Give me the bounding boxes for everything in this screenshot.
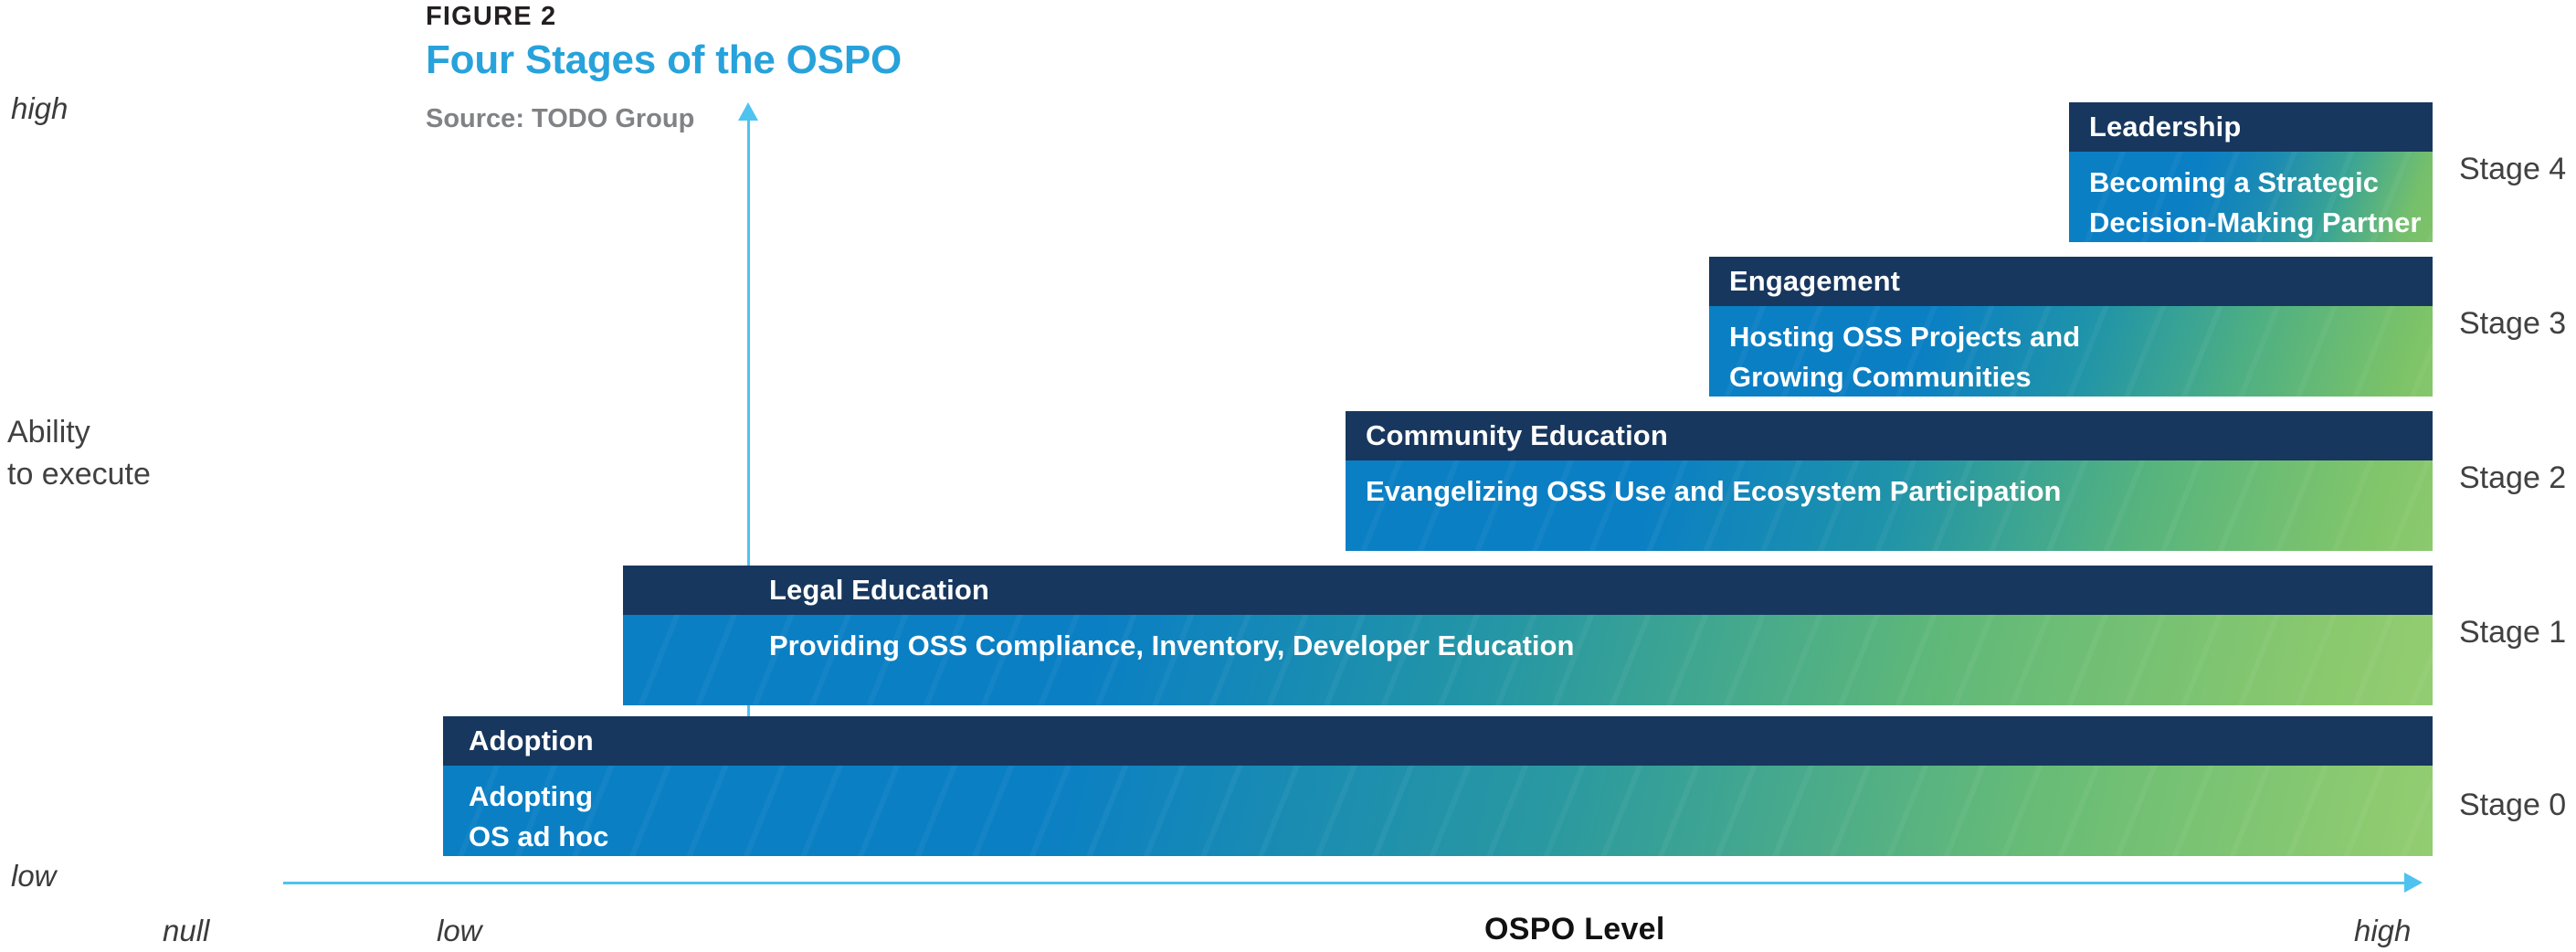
stage-4-axis-label: Stage 4 (2459, 151, 2566, 187)
stage-2-header: Community Education (1346, 411, 2433, 460)
stage-0-body-label: Adopting OS ad hoc (469, 780, 608, 852)
stage-2-header-label: Community Education (1366, 420, 1668, 451)
stage-1-body: Providing OSS Compliance, Inventory, Dev… (623, 615, 2433, 705)
stage-3-header-label: Engagement (1729, 266, 1900, 297)
stage-3-body-label: Hosting OSS Projects and Growing Communi… (1729, 321, 2080, 393)
stage-4-header: Leadership (2069, 102, 2433, 152)
stage-bar-3[interactable]: Engagement Hosting OSS Projects and Grow… (1709, 257, 2433, 397)
stage-0-sheen-overlay (443, 766, 2433, 856)
y-axis-high-tick-label: high (11, 91, 68, 126)
figure-number-label: FIGURE 2 (426, 0, 556, 33)
stage-bar-4[interactable]: Leadership Becoming a Strategic Decision… (2069, 102, 2433, 242)
stage-4-body: Becoming a Strategic Decision-Making Par… (2069, 152, 2433, 242)
stage-4-header-label: Leadership (2089, 111, 2241, 143)
stage-0-header-label: Adoption (469, 725, 594, 756)
x-axis-arrow-icon (2404, 873, 2423, 893)
x-axis-high-tick-label: high (2354, 914, 2411, 948)
figure-source-label: Source: TODO Group (426, 102, 694, 135)
stage-2-body: Evangelizing OSS Use and Ecosystem Parti… (1346, 460, 2433, 551)
stage-2-axis-label: Stage 2 (2459, 460, 2566, 496)
stage-bar-1[interactable]: Legal Education Providing OSS Compliance… (623, 566, 2433, 705)
ospo-four-stages-figure: FIGURE 2 Four Stages of the OSPO Source:… (0, 0, 2576, 952)
stage-1-body-label: Providing OSS Compliance, Inventory, Dev… (769, 629, 1574, 661)
stage-1-axis-label: Stage 1 (2459, 614, 2566, 651)
stage-bar-2[interactable]: Community Education Evangelizing OSS Use… (1346, 411, 2433, 551)
stage-1-header-label: Legal Education (769, 575, 989, 606)
y-axis-low-tick-label: low (11, 859, 57, 894)
stage-2-body-label: Evangelizing OSS Use and Ecosystem Parti… (1366, 475, 2061, 507)
x-axis-low-tick-label: low (437, 914, 482, 948)
x-axis-null-tick-label: null (163, 914, 209, 948)
stage-bar-0[interactable]: Adoption Adopting OS ad hoc (443, 716, 2433, 856)
y-axis-title: Ability to execute (7, 411, 281, 495)
stage-3-axis-label: Stage 3 (2459, 305, 2566, 342)
x-axis-line (283, 882, 2406, 884)
figure-title: Four Stages of the OSPO (426, 37, 902, 84)
stage-4-body-label: Becoming a Strategic Decision-Making Par… (2089, 166, 2421, 238)
stage-0-header: Adoption (443, 716, 2433, 766)
stage-1-header: Legal Education (623, 566, 2433, 615)
x-axis-title: OSPO Level (1484, 912, 1665, 947)
stage-3-body: Hosting OSS Projects and Growing Communi… (1709, 306, 2433, 397)
stage-3-header: Engagement (1709, 257, 2433, 306)
stage-0-body: Adopting OS ad hoc (443, 766, 2433, 856)
stage-0-axis-label: Stage 0 (2459, 787, 2566, 823)
